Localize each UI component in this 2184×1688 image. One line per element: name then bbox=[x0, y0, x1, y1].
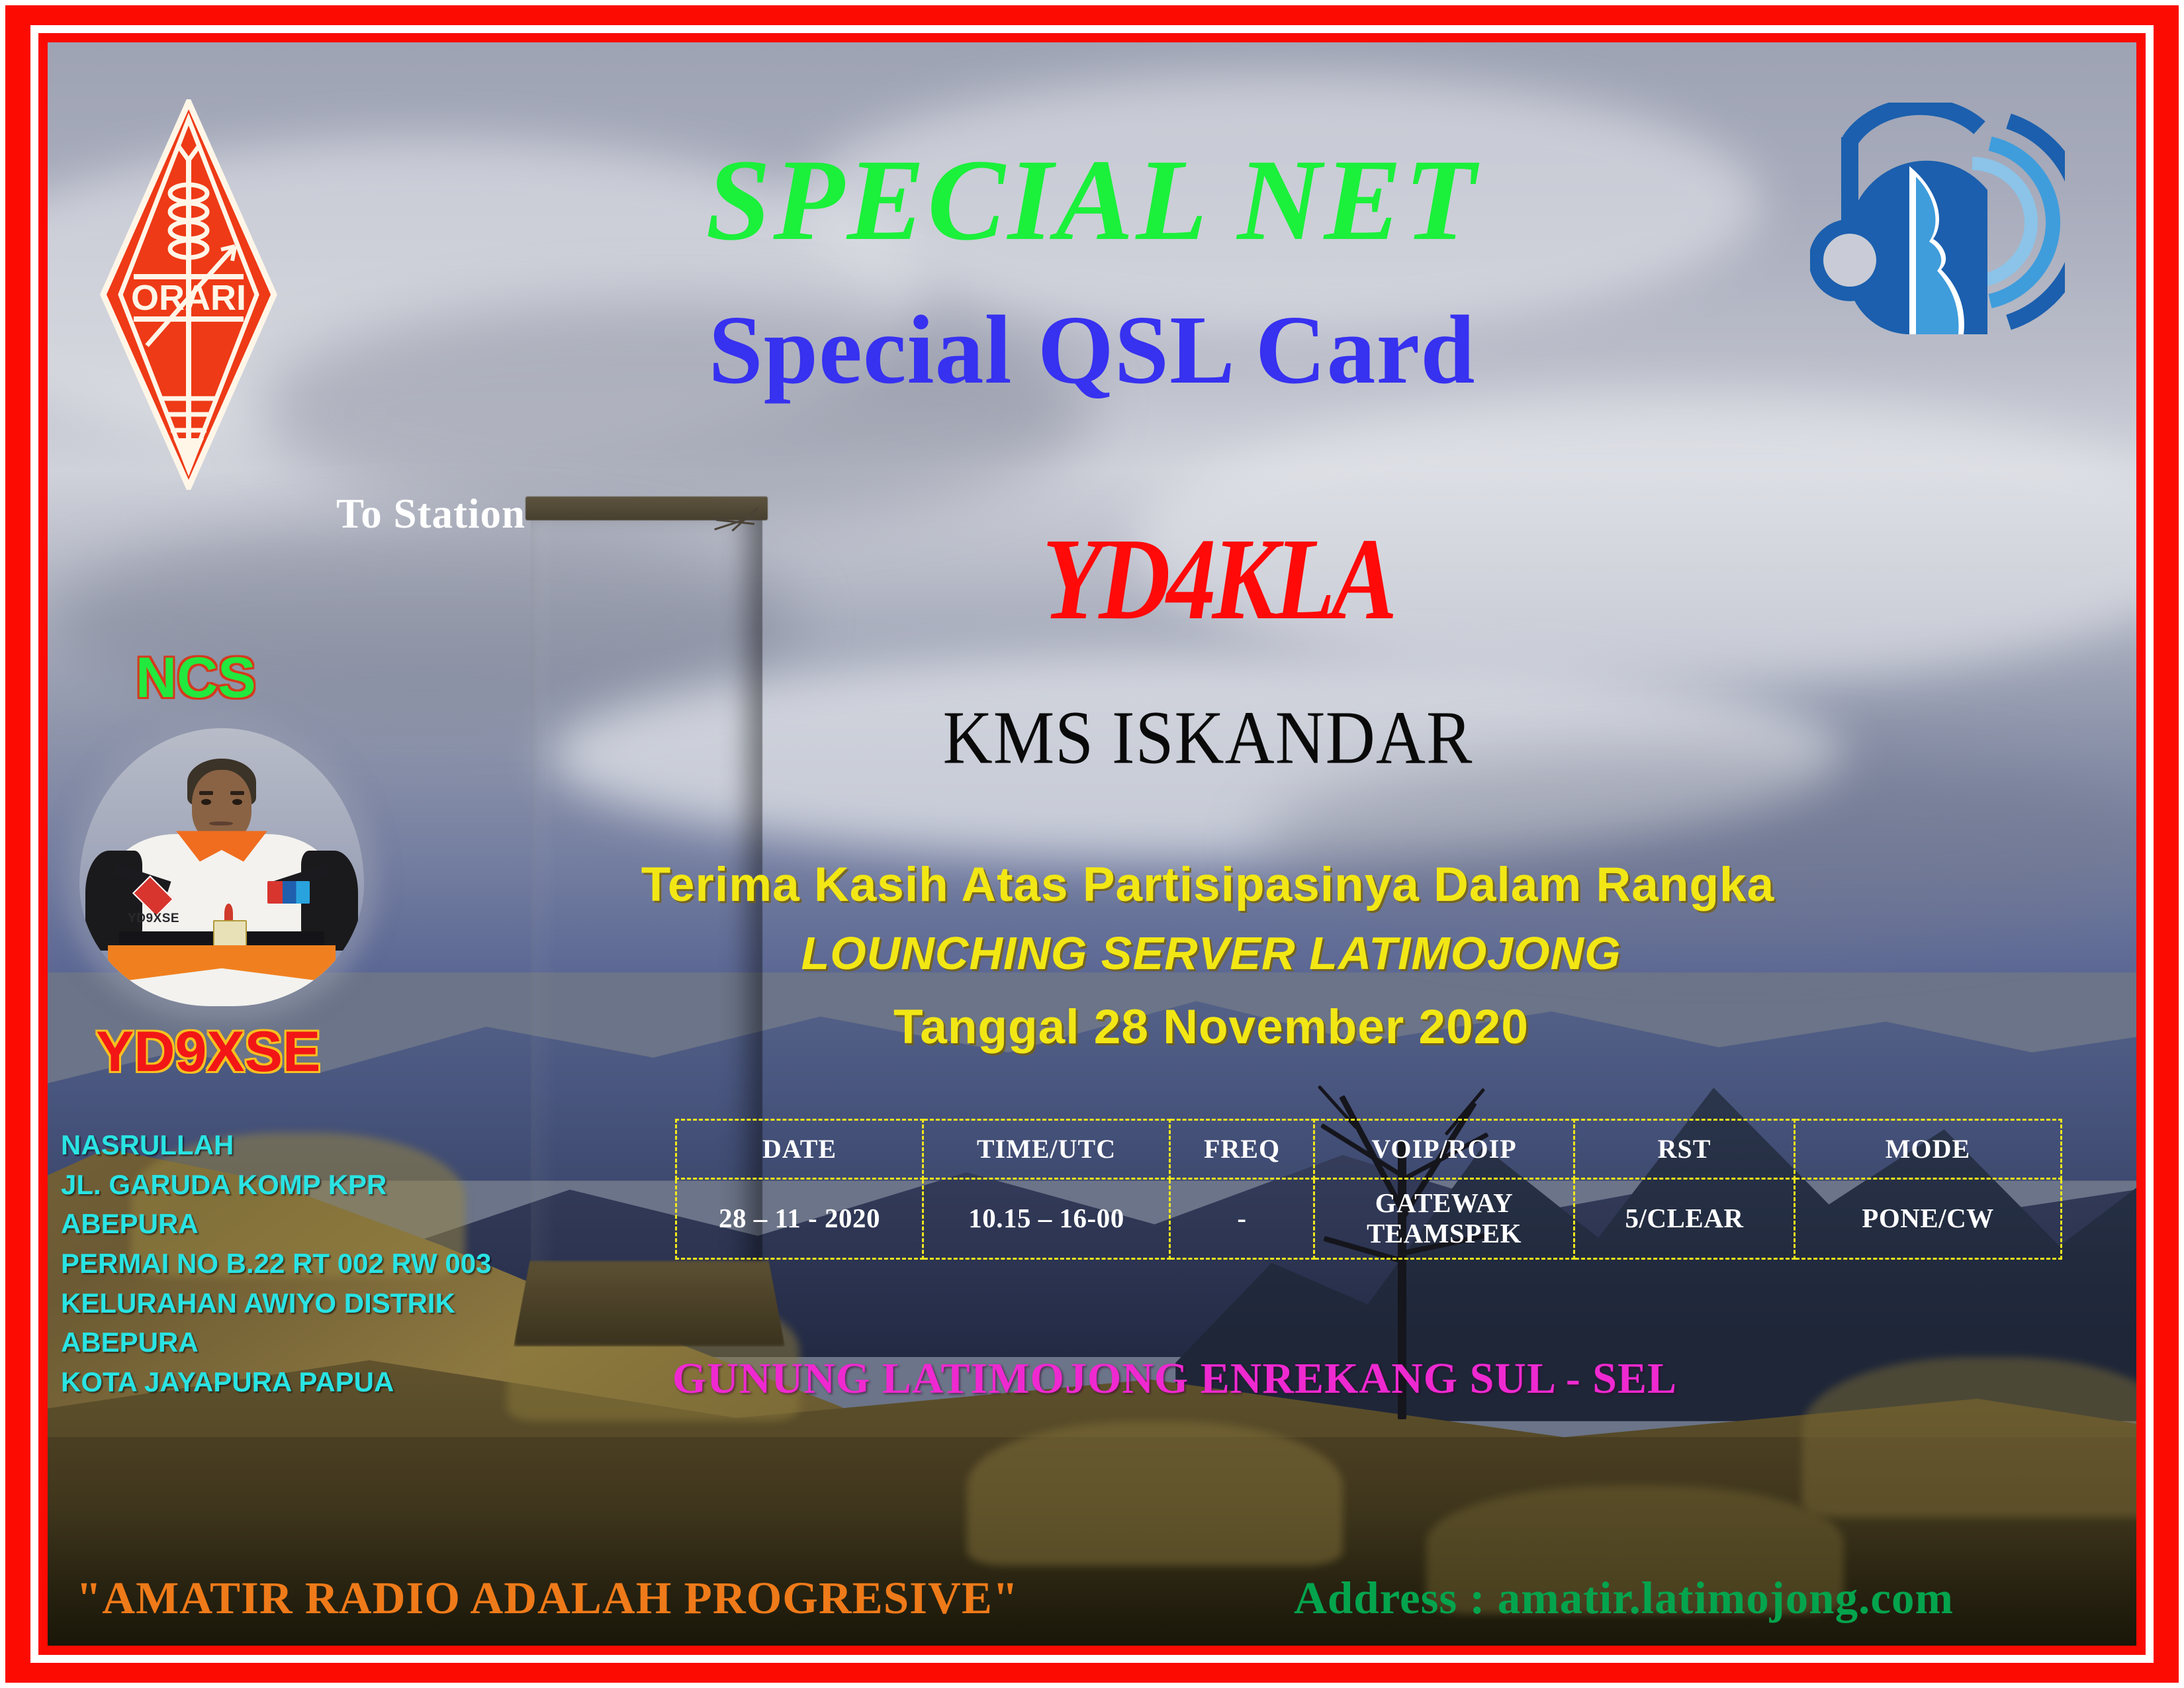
address-line: NASRULLAH bbox=[61, 1125, 491, 1165]
station-operator-name: KMS ISKANDAR bbox=[116, 694, 2184, 781]
column-header-date: DATE bbox=[676, 1120, 923, 1179]
page-subtitle-special-qsl-card: Special QSL Card bbox=[0, 301, 2184, 399]
cell-voip-roip: GATEWAY TEAMSPEK bbox=[1314, 1179, 1574, 1259]
address-line: ABEPURA bbox=[61, 1204, 491, 1244]
thanks-line-3-date: Tanggal 28 November 2020 bbox=[119, 1000, 2184, 1055]
qsl-card: ORARI bbox=[0, 0, 2184, 1688]
cell-date: 28 – 11 - 2020 bbox=[676, 1179, 923, 1259]
column-header-time-utc: TIME/UTC bbox=[923, 1120, 1170, 1179]
table-header-row: DATE TIME/UTC FREQ VOIP/ROIP RST MODE bbox=[676, 1120, 2062, 1179]
thanks-line-1: Terima Kasih Atas Partisipasinya Dalam R… bbox=[116, 857, 2184, 912]
thanks-line-2-event: LOUNCHING SERVER LATIMOJONG bbox=[119, 927, 2184, 980]
cell-freq: - bbox=[1170, 1179, 1314, 1259]
address-line: JL. GARUDA KOMP KPR bbox=[61, 1165, 491, 1205]
cell-rst: 5/CLEAR bbox=[1574, 1179, 1795, 1259]
cell-time: 10.15 – 16-00 bbox=[923, 1179, 1170, 1259]
column-header-mode: MODE bbox=[1795, 1120, 2062, 1179]
monument-base bbox=[514, 1260, 785, 1346]
monument-cap bbox=[525, 496, 768, 520]
cell-mode: PONE/CW bbox=[1795, 1179, 2062, 1259]
operator-eyebrow bbox=[230, 791, 245, 796]
address-line: PERMAI NO B.22 RT 002 RW 003 bbox=[61, 1244, 491, 1284]
station-callsign: YD4KLA bbox=[126, 521, 2184, 638]
column-header-freq: FREQ bbox=[1170, 1120, 1314, 1179]
cell-voip-line2: TEAMSPEK bbox=[1315, 1219, 1573, 1249]
footer-web-address: Address : amatir.latimojong.com bbox=[1294, 1572, 1954, 1624]
operator-eyebrow bbox=[199, 791, 214, 796]
column-header-voip-roip: VOIP/ROIP bbox=[1314, 1120, 1574, 1179]
column-header-rst: RST bbox=[1574, 1120, 1795, 1179]
grass-tuft bbox=[967, 1421, 1343, 1566]
cell-voip-line1: GATEWAY bbox=[1315, 1188, 1573, 1219]
page-title-special-net: SPECIAL NET bbox=[0, 142, 2184, 259]
qso-log-table: DATE TIME/UTC FREQ VOIP/ROIP RST MODE 28… bbox=[675, 1119, 2062, 1260]
location-caption: GUNUNG LATIMOJONG ENREKANG SUL - SEL bbox=[83, 1354, 2184, 1404]
footer-slogan: "AMATIR RADIO ADALAH PROGRESIVE" bbox=[76, 1572, 1019, 1624]
table-row: 28 – 11 - 2020 10.15 – 16-00 - GATEWAY T… bbox=[676, 1179, 2062, 1259]
uniform-callsign-text: YD9XSE bbox=[128, 912, 179, 926]
address-line: KELURAHAN AWIYO DISTRIK bbox=[61, 1284, 491, 1323]
